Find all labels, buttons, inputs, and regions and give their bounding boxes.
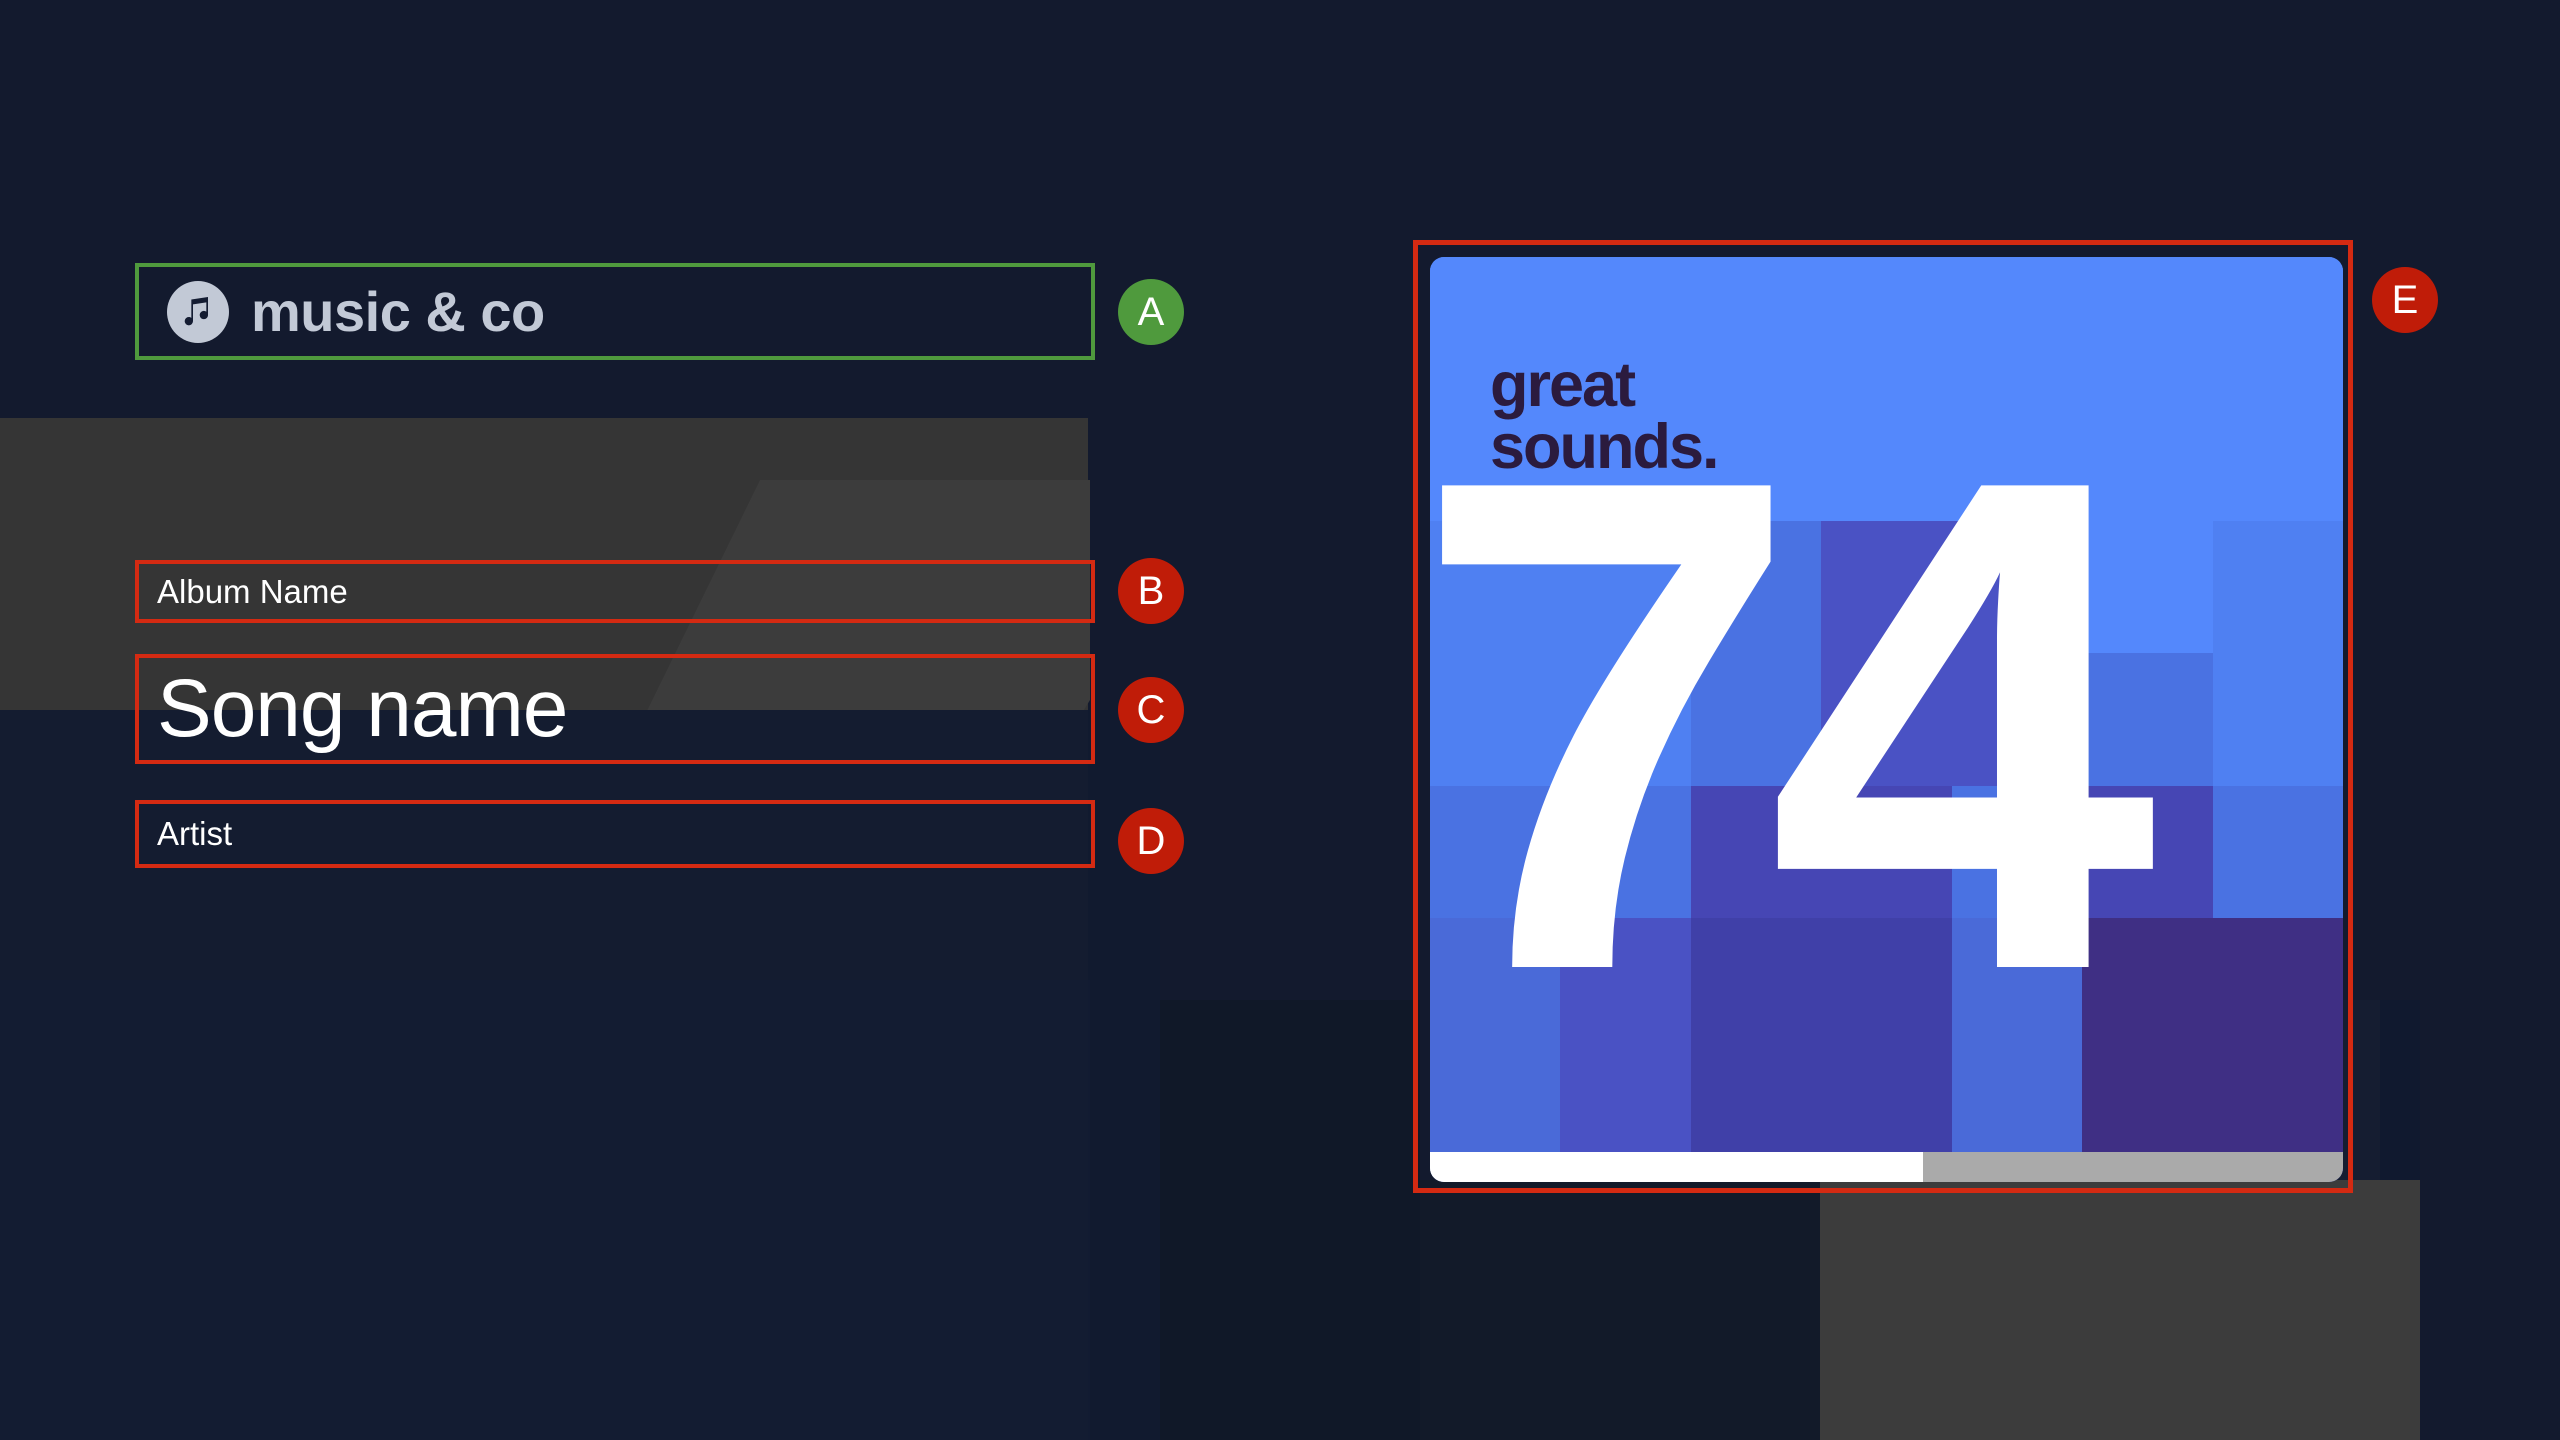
- album-name-field[interactable]: Album Name: [135, 560, 1095, 623]
- brand-logo-box[interactable]: music & co: [135, 263, 1095, 360]
- annotation-badge-d: D: [1118, 808, 1184, 874]
- song-name-text: Song name: [157, 662, 567, 756]
- screen-root: music & co A Album Name B Song name C Ar…: [0, 0, 2560, 1440]
- annotation-badge-c: C: [1118, 677, 1184, 743]
- music-note-icon: [167, 281, 229, 343]
- playback-progress-fill: [1430, 1152, 1923, 1182]
- artist-field[interactable]: Artist: [135, 800, 1095, 868]
- annotation-badge-a: A: [1118, 279, 1184, 345]
- song-name-field[interactable]: Song name: [135, 654, 1095, 764]
- brand-name: music & co: [251, 284, 545, 340]
- album-art-number: 74: [1430, 375, 2325, 1182]
- artist-text: Artist: [157, 815, 232, 853]
- album-name-text: Album Name: [157, 573, 348, 611]
- album-art-grid-cell: [2213, 257, 2343, 389]
- annotation-badge-e: E: [2372, 267, 2438, 333]
- playback-progress-track[interactable]: [1430, 1152, 2343, 1182]
- album-art-card[interactable]: great sounds. 74: [1430, 257, 2343, 1182]
- annotation-badge-b: B: [1118, 558, 1184, 624]
